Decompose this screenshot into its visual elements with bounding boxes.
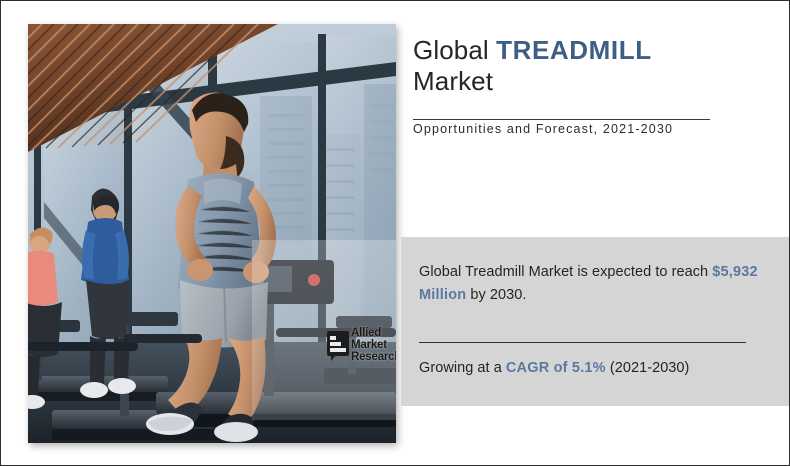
cagr-prefix: Growing at a <box>419 360 506 376</box>
header-divider <box>413 119 710 120</box>
stat-divider <box>419 342 746 343</box>
cagr-value: CAGR of 5.1% <box>506 360 606 376</box>
title-line-one: Global TREADMILL <box>413 35 753 66</box>
logo-wordmark: Allied Market Research <box>351 328 396 363</box>
subtitle: Opportunities and Forecast, 2021-2030 <box>413 122 673 136</box>
title-prefix: Global <box>413 35 496 65</box>
speech-bubble-icon <box>327 331 351 361</box>
allied-market-research-logo: Allied Market Research <box>327 323 396 369</box>
logo-line-3: Research <box>351 352 396 364</box>
page-title: Global TREADMILL Market <box>413 35 753 96</box>
market-value-statement: Global Treadmill Market is expected to r… <box>419 261 764 308</box>
hero-photo: Allied Market Research <box>28 24 396 443</box>
title-line-two: Market <box>413 66 753 97</box>
statement-prefix: Global Treadmill Market is expected to r… <box>419 264 712 280</box>
cagr-suffix: (2021-2030) <box>606 360 690 376</box>
cagr-statement: Growing at a CAGR of 5.1% (2021-2030) <box>419 360 689 376</box>
stat-panel: Global Treadmill Market is expected to r… <box>401 237 790 406</box>
infographic-canvas: Allied Market Research Global TREADMILL … <box>0 0 790 466</box>
statement-suffix: by 2030. <box>466 287 526 303</box>
gym-photo-illustration <box>28 24 396 443</box>
title-keyword: TREADMILL <box>496 35 652 65</box>
